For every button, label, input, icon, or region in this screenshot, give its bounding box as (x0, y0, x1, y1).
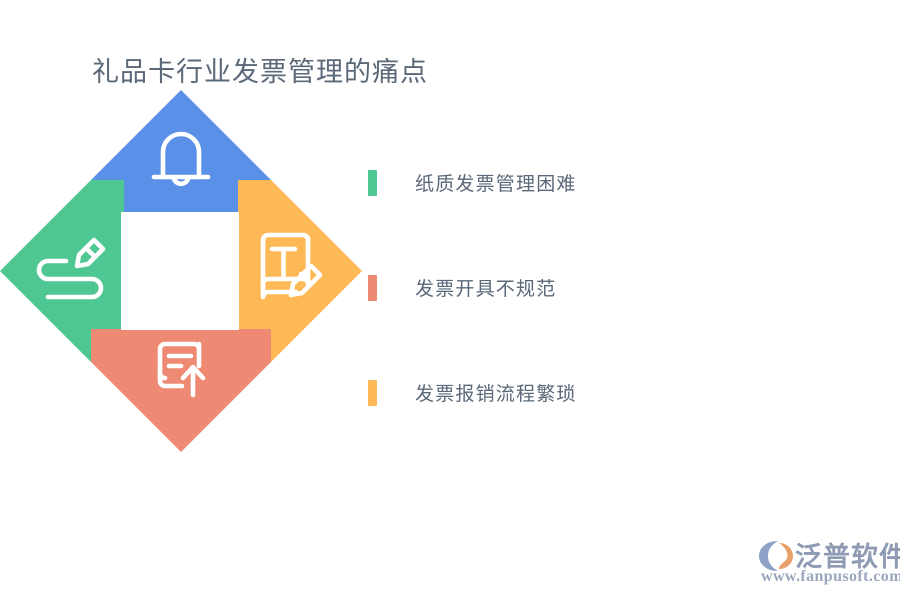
quadrant-bottom[interactable] (91, 329, 271, 452)
brand-logo[interactable]: 泛普软件 www.fanpusoft.com (757, 533, 897, 589)
brand-url: www.fanpusoft.com (761, 568, 900, 586)
quadrant-bottom-shape (91, 329, 271, 452)
legend: 纸质发票管理困难 发票开具不规范 发票报销流程繁琐 (368, 130, 698, 445)
list-item[interactable]: 发票开具不规范 (368, 235, 698, 340)
legend-color-swatch (368, 380, 377, 406)
center-white-square (121, 212, 239, 330)
infographic-canvas: 礼品卡行业发票管理的痛点 (0, 0, 900, 600)
legend-item-label: 发票开具不规范 (415, 274, 556, 301)
diamond-quadrant-diagram (0, 90, 362, 452)
list-item[interactable]: 发票报销流程繁琐 (368, 340, 698, 445)
list-item[interactable]: 纸质发票管理困难 (368, 130, 698, 235)
page-title: 礼品卡行业发票管理的痛点 (92, 50, 428, 89)
legend-color-swatch (368, 170, 377, 196)
legend-item-label: 发票报销流程繁琐 (415, 379, 577, 406)
legend-color-swatch (368, 275, 377, 301)
legend-item-label: 纸质发票管理困难 (415, 169, 577, 196)
